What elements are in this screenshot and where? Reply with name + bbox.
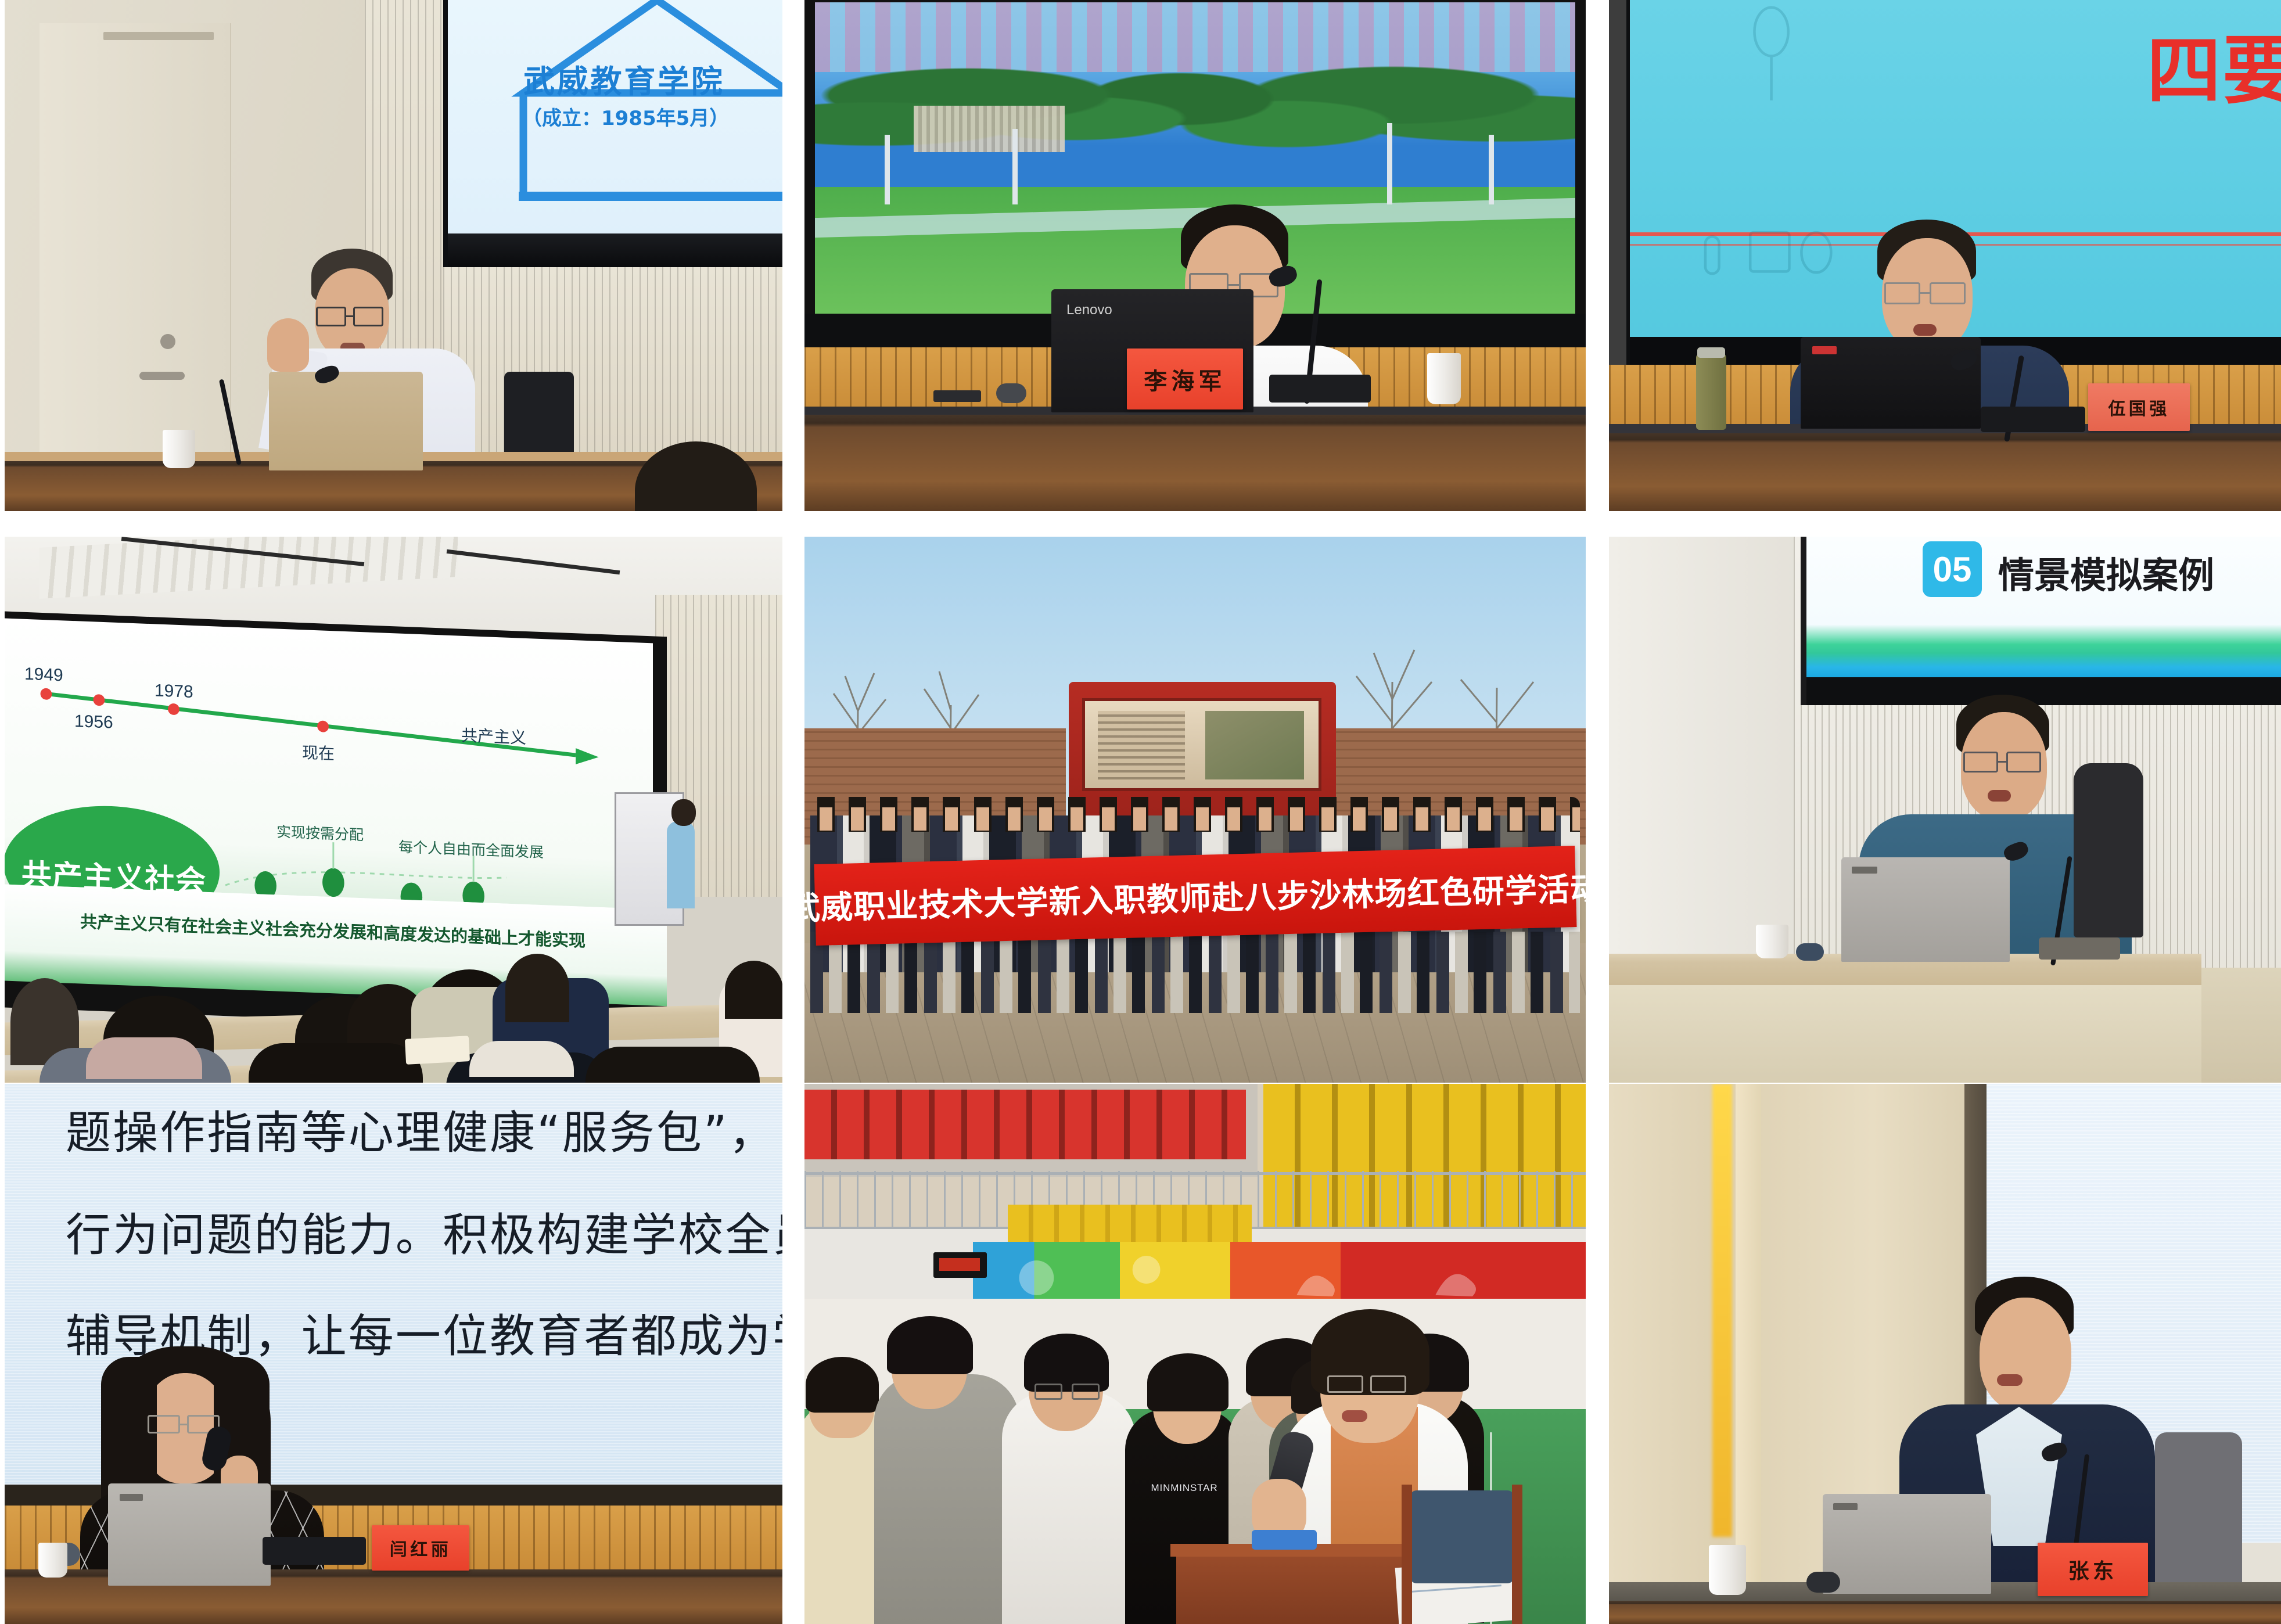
- paper-cup-2: [1427, 353, 1461, 404]
- laptop-3[interactable]: [1801, 337, 1981, 429]
- name-card-3: 伍国强: [2088, 383, 2190, 431]
- slide-4-bullet-2: 实现按需分配: [276, 820, 364, 845]
- slide-6-badge: 05: [1933, 549, 1972, 590]
- photo-cell-6: 05 情景模拟案例: [1597, 526, 2281, 1084]
- paper-cup-1: [163, 430, 195, 468]
- photo-5: 武威职业技术大学新入职教师赴八步沙林场红色研学活动: [804, 537, 1586, 1083]
- slide-7-line-1: 题操作指南等心理健康“服务包”，: [66, 1097, 776, 1162]
- name-card-3-text: 伍国强: [2108, 394, 2169, 420]
- slide-1-title: 武威教育学院: [523, 56, 725, 102]
- photo-cell-5: 武威职业技术大学新入职教师赴八步沙林场红色研学活动: [793, 526, 1597, 1084]
- photo-8: MINMINSTAR: [804, 1084, 1586, 1624]
- photo-cell-1: 武威教育学院 （成立：1985年5月）: [0, 0, 793, 526]
- laptop-1: [269, 372, 423, 470]
- photo-cell-4: 1949 1956 1978 现在 共产主义 共产主义社会 实现按需分配 每个人…: [0, 526, 793, 1084]
- photo-cell-8: MINMINSTAR: [793, 1084, 1597, 1624]
- name-card-7: 闫红丽: [372, 1525, 469, 1571]
- slide-4-goal: 共产主义: [461, 723, 526, 749]
- slide-4-now: 现在: [302, 740, 335, 764]
- name-card-7-text: 闫红丽: [390, 1535, 451, 1561]
- slide-7-line-2: 行为问题的能力。积极构建学校全员: [66, 1199, 782, 1264]
- projection-screen-1: 武威教育学院 （成立：1985年5月）: [443, 0, 782, 267]
- slide-4-year-1956: 1956: [74, 712, 113, 733]
- projection-screen-6: 05 情景模拟案例: [1801, 537, 2281, 705]
- photo-3: 四要: [1609, 0, 2281, 511]
- slide-4-year-1949: 1949: [24, 664, 63, 686]
- paper-cup-6: [1756, 925, 1788, 958]
- slide-6-title: 情景模拟案例: [1998, 546, 2214, 598]
- photo-cell-7: 题操作指南等心理健康“服务包”， 行为问题的能力。积极构建学校全员 辅导机制，让…: [0, 1084, 793, 1624]
- photo-1: 武威教育学院 （成立：1985年5月）: [5, 0, 782, 511]
- photo-cell-2: Lenovo 李海军: [793, 0, 1597, 526]
- amber-light-column: [1712, 1084, 1732, 1537]
- laptop-6[interactable]: [1841, 857, 2010, 962]
- laptop-9[interactable]: [1823, 1494, 1991, 1594]
- slide-1-subtitle: （成立：1985年5月）: [522, 102, 729, 131]
- paper-cup-9: [1709, 1545, 1746, 1595]
- photo-9: 张东: [1609, 1084, 2281, 1624]
- event-banner-text: 武威职业技术大学新入职教师赴八步沙林场红色研学活动: [804, 863, 1586, 929]
- name-card-2: 李海军: [1127, 348, 1243, 409]
- slide-4-year-1978: 1978: [155, 681, 193, 702]
- name-card-2-text: 李海军: [1144, 362, 1226, 396]
- name-card-9: 张东: [2038, 1543, 2148, 1596]
- photo-2: Lenovo 李海军: [804, 0, 1586, 511]
- photo-7: 题操作指南等心理健康“服务包”， 行为问题的能力。积极构建学校全员 辅导机制，让…: [5, 1084, 782, 1624]
- photo-collage-grid: 武威教育学院 （成立：1985年5月）: [0, 0, 2281, 1624]
- tshirt-print-text: MINMINSTAR: [1140, 1482, 1228, 1494]
- laptop-7[interactable]: [108, 1483, 271, 1586]
- photo-6: 05 情景模拟案例: [1609, 537, 2281, 1083]
- photo-cell-9: 张东: [1597, 1084, 2281, 1624]
- photo-cell-3: 四要: [1597, 0, 2281, 526]
- photo-4: 1949 1956 1978 现在 共产主义 共产主义社会 实现按需分配 每个人…: [5, 537, 782, 1083]
- name-card-9-text: 张东: [2068, 1554, 2118, 1585]
- paper-cup-7: [38, 1543, 67, 1578]
